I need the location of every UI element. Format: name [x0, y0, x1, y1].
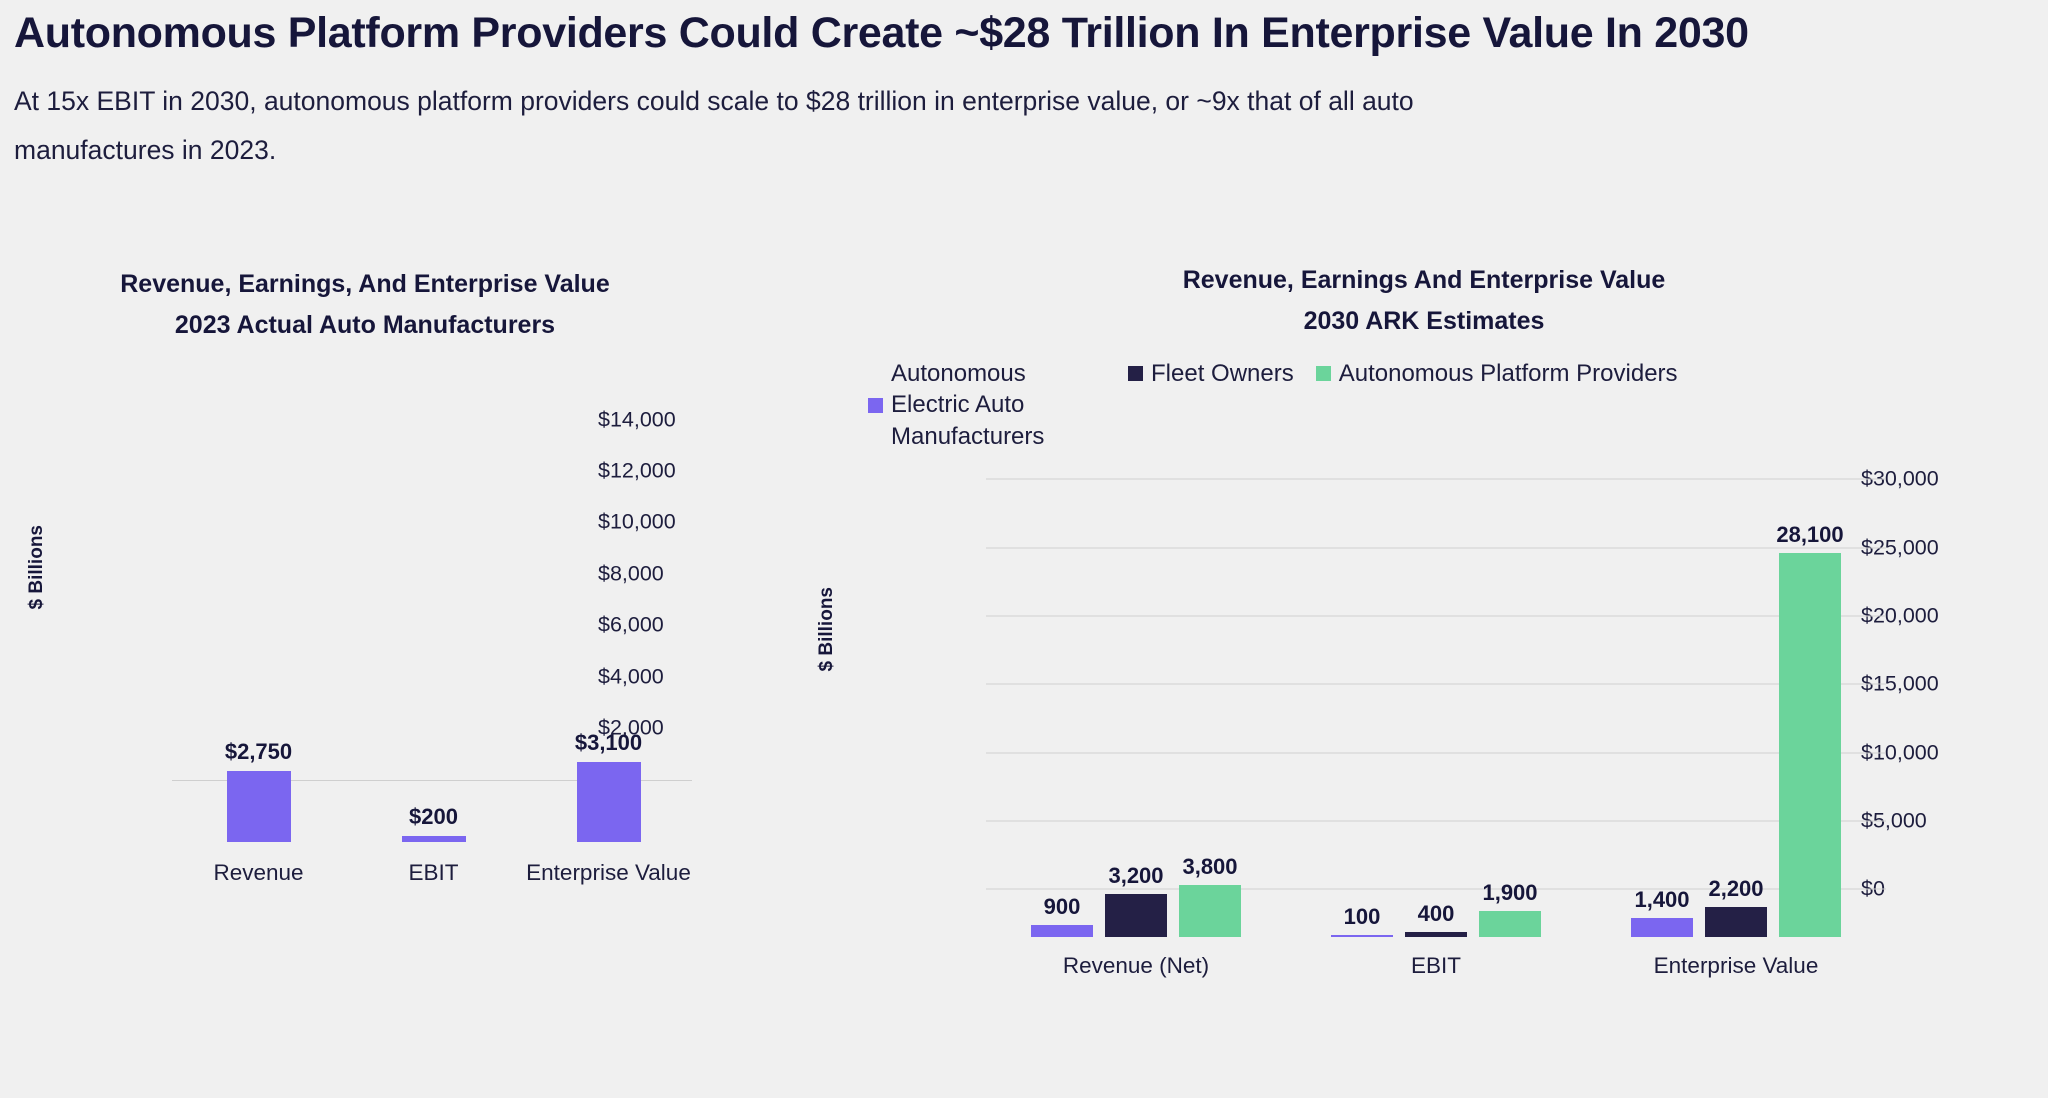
chart-left-title: Revenue, Earnings, And Enterprise Value … — [0, 250, 770, 346]
bar-value-label: 1,900 — [1482, 882, 1537, 904]
chart-panel-left: Revenue, Earnings, And Enterprise Value … — [0, 250, 770, 1098]
chart-right-bars: 9003,2003,800Revenue (Net)1004001,900EBI… — [986, 469, 1886, 937]
bar-value-label: 100 — [1344, 906, 1381, 928]
bar-group-0: $2,750Revenue — [176, 464, 341, 842]
chart-right-title-line2: 2030 ARK Estimates — [960, 301, 1888, 342]
bar-value-label: $200 — [409, 806, 458, 828]
legend-item-label: Fleet Owners — [1151, 358, 1294, 390]
bar[interactable] — [1179, 885, 1241, 937]
legend-item-2[interactable]: Autonomous Platform Providers — [1316, 358, 1678, 390]
bar-group-1: 1004001,900EBIT — [1296, 517, 1576, 937]
chart-left-plot: $ Billions $14,000$12,000$10,000$8,000$6… — [0, 402, 770, 842]
bar-value-label: 2,200 — [1708, 878, 1763, 900]
y-tick-label: $25,000 — [1861, 535, 2048, 560]
bar[interactable] — [1031, 925, 1093, 937]
bar-slot: $3,100 — [577, 464, 641, 842]
x-category-label: EBIT — [408, 860, 458, 886]
x-category-label: Enterprise Value — [1654, 953, 1819, 979]
y-tick-label: $10,000 — [1861, 740, 2048, 765]
bar-value-label: $3,100 — [575, 732, 642, 754]
x-category-label: Enterprise Value — [526, 860, 691, 886]
bar-slot: 2,200 — [1705, 517, 1767, 937]
bar[interactable] — [1779, 553, 1841, 937]
bar-value-label: 3,200 — [1108, 865, 1163, 887]
page-subtitle: At 15x EBIT in 2030, autonomous platform… — [14, 77, 1494, 175]
x-category-label: EBIT — [1411, 953, 1461, 979]
legend-swatch-icon — [868, 398, 883, 413]
y-tick-label: $5,000 — [1861, 808, 2048, 833]
bar-value-label: 1,400 — [1634, 889, 1689, 911]
legend-swatch-icon — [1316, 366, 1331, 381]
header: Autonomous Platform Providers Could Crea… — [14, 0, 2034, 175]
bar-slot: $200 — [402, 464, 466, 842]
bar[interactable] — [402, 836, 466, 841]
bar-group-1: $200EBIT — [351, 464, 516, 842]
chart-right-title-line1: Revenue, Earnings And Enterprise Value — [960, 260, 1888, 301]
bar-group-2: $3,100Enterprise Value — [526, 464, 691, 842]
legend-item-label: Autonomous Electric Auto Manufacturers — [891, 358, 1106, 454]
bar[interactable] — [1631, 918, 1693, 937]
bar[interactable] — [577, 762, 641, 842]
bar-group-2: 1,4002,20028,100Enterprise Value — [1596, 517, 1876, 937]
legend-item-0[interactable]: Autonomous Electric Auto Manufacturers — [868, 358, 1106, 454]
bar-value-label: $2,750 — [225, 741, 292, 763]
bar-value-label: 28,100 — [1776, 524, 1843, 546]
bar-slot: $2,750 — [227, 464, 291, 842]
bar[interactable] — [1105, 894, 1167, 938]
chart-right-plot: $ Billions $30,000$25,000$20,000$15,000$… — [800, 469, 2048, 937]
bar-slot: 3,800 — [1179, 517, 1241, 937]
x-category-label: Revenue (Net) — [1063, 953, 1209, 979]
bar[interactable] — [1331, 935, 1393, 937]
bar[interactable] — [1479, 911, 1541, 937]
bar-slot: 28,100 — [1779, 517, 1841, 937]
bar-slot: 100 — [1331, 517, 1393, 937]
chart-left-title-line1: Revenue, Earnings, And Enterprise Value — [60, 264, 670, 305]
chart-right-legend: Autonomous Electric Auto ManufacturersFl… — [800, 358, 2048, 454]
bar-slot: 3,200 — [1105, 517, 1167, 937]
chart-right-title: Revenue, Earnings And Enterprise Value 2… — [800, 250, 2048, 342]
bar[interactable] — [227, 771, 291, 842]
y-tick-label: $0 — [1861, 877, 2048, 902]
y-tick-label: $15,000 — [1861, 672, 2048, 697]
bar-slot: 400 — [1405, 517, 1467, 937]
y-tick-label: $20,000 — [1861, 603, 2048, 628]
bar-value-label: 900 — [1044, 896, 1081, 918]
bar-slot: 1,400 — [1631, 517, 1693, 937]
bar[interactable] — [1705, 907, 1767, 937]
bar-slot: 900 — [1031, 517, 1093, 937]
legend-item-1[interactable]: Fleet Owners — [1128, 358, 1294, 390]
x-category-label: Revenue — [213, 860, 303, 886]
y-tick-label: $30,000 — [1861, 467, 2048, 492]
page-title: Autonomous Platform Providers Could Crea… — [14, 6, 2034, 61]
bar-slot: 1,900 — [1479, 517, 1541, 937]
chart-left-bars: $2,750Revenue$200EBIT$3,100Enterprise Va… — [172, 402, 692, 842]
chart-panel-right: Revenue, Earnings And Enterprise Value 2… — [800, 250, 2048, 1098]
legend-item-label: Autonomous Platform Providers — [1339, 358, 1678, 390]
bar[interactable] — [1405, 932, 1467, 937]
bar-value-label: 400 — [1418, 903, 1455, 925]
chart-left-title-line2: 2023 Actual Auto Manufacturers — [60, 305, 670, 346]
legend-swatch-icon — [1128, 366, 1143, 381]
bar-group-0: 9003,2003,800Revenue (Net) — [996, 517, 1276, 937]
bar-value-label: 3,800 — [1182, 856, 1237, 878]
